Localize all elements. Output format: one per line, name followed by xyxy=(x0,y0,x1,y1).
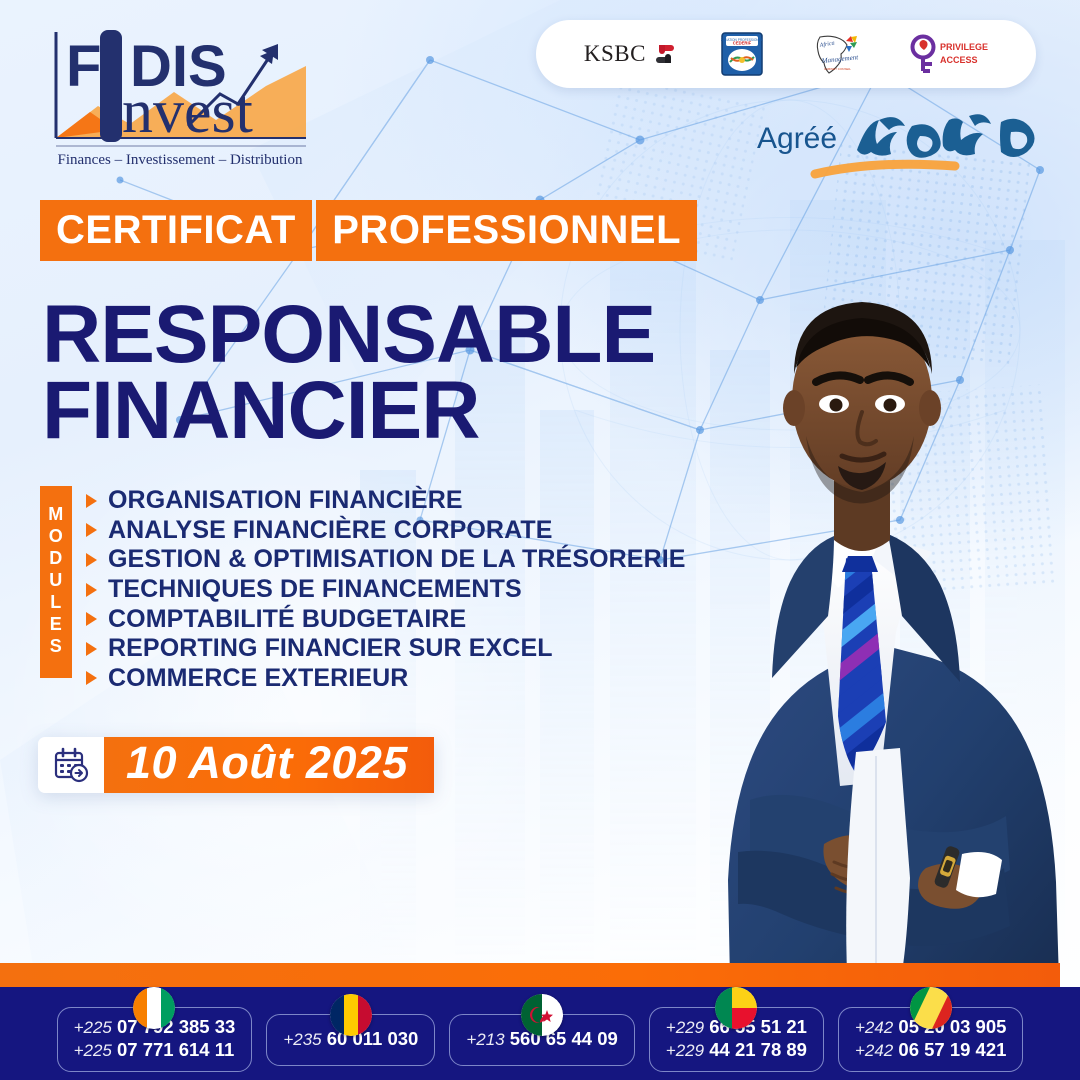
module-item: REPORTING FINANCIER SUR EXCEL xyxy=(86,634,686,664)
ksbc-label: KSBC xyxy=(584,41,646,67)
date-icon-box xyxy=(38,737,104,793)
flag-icon-dz xyxy=(521,994,563,1036)
triangle-bullet-icon xyxy=(86,553,97,567)
agree-logo-icon: Agréé xyxy=(757,106,1057,186)
modules-list: ORGANISATION FINANCIÈRE ANALYSE FINANCIÈ… xyxy=(86,486,686,693)
module-item: ORGANISATION FINANCIÈRE xyxy=(86,486,686,516)
contact-list: +225 07 792 385 33 +225 07 771 614 11 xyxy=(0,999,1080,1080)
orange-divider-bar xyxy=(0,963,1060,987)
flag-icon-ci xyxy=(133,987,175,1029)
module-label: GESTION & OPTIMISATION DE LA TRÉSORERIE xyxy=(108,545,686,574)
country-code: +242 xyxy=(855,1041,893,1060)
country-code: +225 xyxy=(74,1018,112,1037)
phone-digits: 44 21 78 89 xyxy=(709,1039,807,1060)
module-label: COMMERCE EXTERIEUR xyxy=(108,664,408,693)
accreditation-mark: Agréé xyxy=(757,106,1057,186)
calendar-clock-icon xyxy=(52,746,90,784)
contact-card-algerie[interactable]: +213 560 65 44 09 xyxy=(449,1014,634,1066)
country-code: +229 xyxy=(666,1041,704,1060)
partner-logo-cederif[interactable]: ASSOCIATION PROFESSIONNELLE CEDERIF xyxy=(721,30,763,78)
country-code: +235 xyxy=(283,1030,321,1049)
module-label: REPORTING FINANCIER SUR EXCEL xyxy=(108,634,553,663)
modules-section: M O D U L E S ORGANISATION FINANCIÈRE AN… xyxy=(40,486,686,693)
module-label: ORGANISATION FINANCIÈRE xyxy=(108,486,463,515)
businessman-illustration xyxy=(610,240,1080,1080)
partner-logos-bar: KSBC ASSOCIATION PROFESSIONNELLE CEDERIF xyxy=(536,20,1036,88)
module-label: ANALYSE FINANCIÈRE CORPORATE xyxy=(108,516,553,545)
partner-logo-africa-management[interactable]: Africa Management CABINET CONSEIL xyxy=(806,30,864,78)
module-item: ANALYSE FINANCIÈRE CORPORATE xyxy=(86,516,686,546)
cederif-badge-icon: ASSOCIATION PROFESSIONNELLE CEDERIF xyxy=(721,32,763,76)
flag-icon-td xyxy=(330,994,372,1036)
triangle-bullet-icon xyxy=(86,494,97,508)
country-code: +242 xyxy=(855,1018,893,1037)
contact-card-congo[interactable]: +242 05 20 03 905 +242 06 57 19 421 xyxy=(838,1007,1023,1071)
privilege-label-2: ACCESS xyxy=(940,55,978,65)
africa-map-icon: Africa Management CABINET CONSEIL xyxy=(806,33,864,75)
cederif-label: CEDERIF xyxy=(732,41,751,46)
modules-letter: O xyxy=(49,526,64,548)
svg-text:CABINET CONSEIL: CABINET CONSEIL xyxy=(824,67,851,71)
modules-letter: S xyxy=(50,636,63,658)
modules-letter: D xyxy=(49,548,63,570)
presenter-photo xyxy=(610,240,1080,1080)
triangle-bullet-icon xyxy=(86,523,97,537)
contact-card-benin[interactable]: +229 66 55 51 21 +229 44 21 78 89 xyxy=(649,1007,824,1071)
module-label: COMPTABILITÉ BUDGETAIRE xyxy=(108,605,466,634)
phone-digits: 560 65 44 09 xyxy=(510,1028,618,1049)
date-badge: 10 Août 2025 xyxy=(38,737,434,793)
company-logo: F DIS nvest Finances – Investissement – … xyxy=(38,20,313,172)
certificate-line-1: CERTIFICAT xyxy=(40,200,312,261)
page-title: RESPONSABLE FINANCIER xyxy=(42,297,655,450)
privilege-label-1: PRIVILEGE xyxy=(940,42,988,52)
partner-logo-ksbc[interactable]: KSBC xyxy=(584,30,677,78)
ksbc-pinwheel-icon xyxy=(653,42,677,66)
poster-root: F DIS nvest Finances – Investissement – … xyxy=(0,0,1080,1080)
contact-card-tchad[interactable]: +235 60 011 030 xyxy=(266,1014,435,1066)
modules-letter: L xyxy=(50,592,62,614)
logo-tagline: Finances – Investissement – Distribution xyxy=(58,152,303,168)
country-code: +213 xyxy=(466,1030,504,1049)
agree-label: Agréé xyxy=(757,122,837,155)
modules-tab-label: M O D U L E S xyxy=(40,486,72,678)
contact-card-cote-divoire[interactable]: +225 07 792 385 33 +225 07 771 614 11 xyxy=(57,1007,253,1071)
svg-text:F: F xyxy=(66,34,101,99)
modules-letter: U xyxy=(49,570,63,592)
date-value: 10 Août 2025 xyxy=(104,737,434,793)
triangle-bullet-icon xyxy=(86,583,97,597)
phone-digits: 06 57 19 421 xyxy=(898,1039,1006,1060)
triangle-bullet-icon xyxy=(86,642,97,656)
module-item: TECHNIQUES DE FINANCEMENTS xyxy=(86,575,686,605)
triangle-bullet-icon xyxy=(86,612,97,626)
certificate-banner: CERTIFICAT PROFESSIONNEL xyxy=(40,196,697,261)
phone-digits: 07 771 614 11 xyxy=(117,1039,234,1060)
partner-logo-privilege-access[interactable]: PRIVILEGE ACCESS xyxy=(908,30,988,78)
country-code: +229 xyxy=(666,1018,704,1037)
phone-number: +229 44 21 78 89 xyxy=(666,1039,807,1062)
flag-icon-bj xyxy=(715,987,757,1029)
title-line-2: FINANCIER xyxy=(42,373,655,449)
flag-icon-cg xyxy=(910,987,952,1029)
svg-text:nvest: nvest xyxy=(122,78,253,146)
module-item: GESTION & OPTIMISATION DE LA TRÉSORERIE xyxy=(86,545,686,575)
module-item: COMMERCE EXTERIEUR xyxy=(86,664,686,694)
triangle-bullet-icon xyxy=(86,671,97,685)
modules-letter: M xyxy=(48,504,64,526)
phone-number: +242 06 57 19 421 xyxy=(855,1039,1006,1062)
fidis-invest-logo-icon: F DIS nvest Finances – Investissement – … xyxy=(38,20,313,172)
country-code: +225 xyxy=(74,1041,112,1060)
modules-letter: E xyxy=(50,614,63,636)
phone-number: +225 07 771 614 11 xyxy=(74,1039,236,1062)
phone-digits: 07 792 385 33 xyxy=(117,1016,235,1037)
privilege-access-key-icon: PRIVILEGE ACCESS xyxy=(908,34,988,74)
title-line-1: RESPONSABLE xyxy=(42,297,655,373)
module-label: TECHNIQUES DE FINANCEMENTS xyxy=(108,575,522,604)
module-item: COMPTABILITÉ BUDGETAIRE xyxy=(86,604,686,634)
